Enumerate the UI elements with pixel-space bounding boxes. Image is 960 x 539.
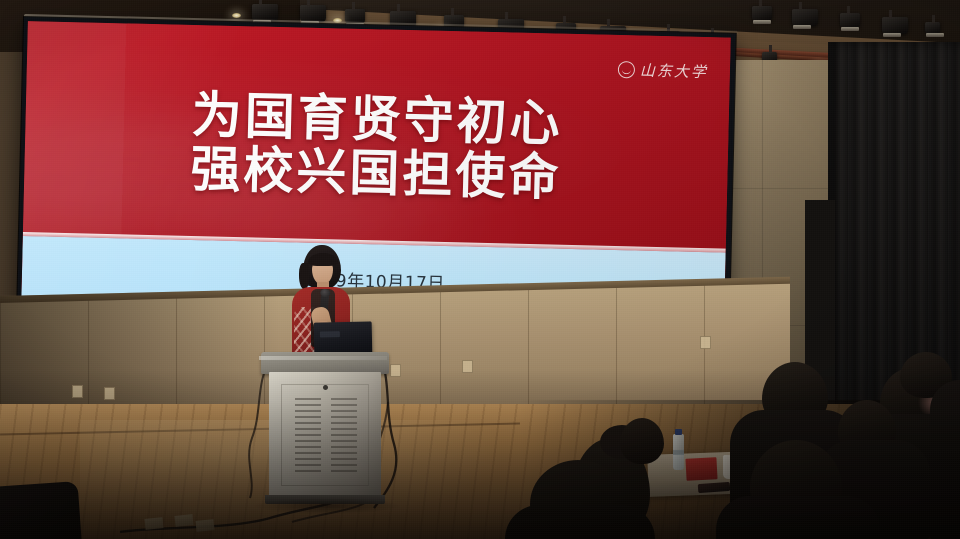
audience-body [930, 380, 960, 539]
podium-vent-grille-left [295, 398, 321, 476]
cable-tape-patch [144, 517, 163, 530]
university-emblem-icon [618, 61, 635, 78]
university-logo: 山东大学 [618, 59, 708, 82]
stage-lamp-icon [252, 4, 278, 21]
podium-floor-shadow [252, 498, 402, 514]
audience-body [505, 505, 655, 539]
podium-button[interactable] [323, 385, 328, 390]
red-notebook [685, 457, 717, 481]
wall-outlet-plate [72, 385, 83, 398]
stage-lamp-icon [840, 13, 860, 28]
foreground-equipment-case [0, 481, 82, 539]
water-bottle [673, 434, 684, 470]
cable-tape-patch [174, 514, 193, 527]
podium-vent-grille-right [331, 398, 357, 476]
auditorium-photograph: 山东大学 为国育贤守初心 强校兴国担使命 2019年10月17日 [0, 0, 960, 539]
university-logo-text: 山东大学 [640, 60, 708, 83]
cable-tape-patch [195, 519, 214, 532]
slide-title: 为国育贤守初心 强校兴国担使命 [24, 84, 729, 209]
presenter-fringe [308, 253, 338, 266]
audience-body [716, 496, 880, 539]
projection-screen-surface: 山东大学 为国育贤守初心 强校兴国担使命 2019年10月17日 [21, 21, 731, 324]
podium-front-panel [269, 372, 381, 498]
stage-lamp-icon [925, 22, 940, 34]
wall-outlet-plate [700, 336, 711, 349]
podium-top-lip [259, 356, 387, 360]
stage-lamp-icon [792, 9, 818, 26]
ceiling-downlight-icon [232, 13, 241, 18]
podium [263, 352, 387, 506]
audience-head [620, 418, 664, 464]
stage-lamp-icon [300, 5, 326, 22]
wall-outlet-plate [462, 360, 473, 373]
podium-top-surface [261, 352, 389, 374]
stage-lamp-icon [752, 6, 772, 21]
wall-outlet-plate [104, 387, 115, 400]
stage-lamp-icon [882, 17, 908, 34]
